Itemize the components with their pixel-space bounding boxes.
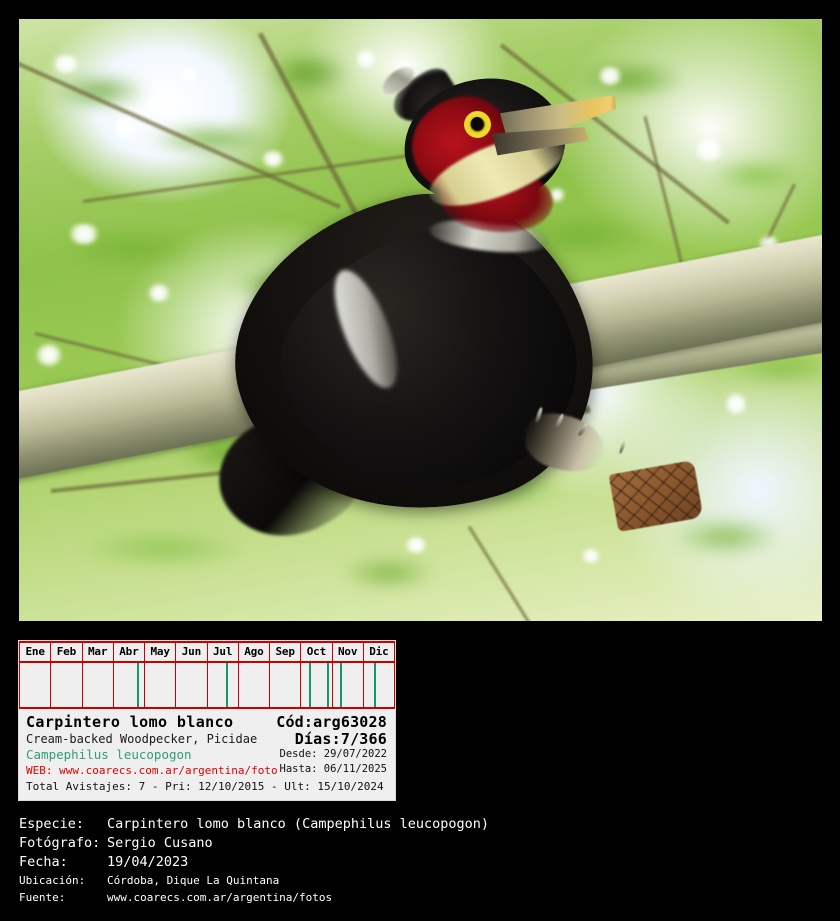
meta-value-5: www.coarecs.com.ar/argentina/fotos (107, 889, 332, 906)
photo-metadata: Especie:Carpintero lomo blanco (Campephi… (19, 815, 819, 906)
sighting-calendar-track (19, 663, 395, 709)
woodpecker (19, 19, 822, 621)
meta-value-3: 19/04/2023 (107, 853, 188, 872)
month-cell-ago: Ago (239, 643, 270, 661)
month-cell-sep: Sep (270, 643, 301, 661)
sighting-tick-5 (340, 663, 342, 707)
meta-row-3: Fecha:19/04/2023 (19, 853, 819, 872)
meta-label-1: Especie: (19, 815, 107, 834)
meta-label-5: Fuente: (19, 889, 107, 906)
date-range-from: Desde: 29/07/2022 (276, 747, 387, 762)
meta-value-1: Carpintero lomo blanco (Campephilus leuc… (107, 815, 489, 834)
meta-value-2: Sergio Cusano (107, 834, 213, 853)
species-total-sightings: Total Avistajes: 7 - Pri: 12/10/2015 - U… (26, 778, 388, 795)
species-info-right: Cód:arg63028 Días:7/366 Desde: 29/07/202… (276, 713, 387, 777)
month-cell-mar: Mar (83, 643, 114, 661)
month-cell-jul: Jul (208, 643, 239, 661)
species-code: Cód:arg63028 (276, 713, 387, 731)
species-days-count: Días:7/366 (276, 731, 387, 747)
month-cell-feb: Feb (51, 643, 82, 661)
sighting-tick-2 (226, 663, 228, 707)
species-data-card: Ene Feb Mar Abr May Jun Jul Ago Sep Oct … (18, 640, 396, 801)
meta-row-2: Fotógrafo:Sergio Cusano (19, 834, 819, 853)
species-info-block: Carpintero lomo blanco Cream-backed Wood… (19, 709, 395, 800)
month-cell-ene: Ene (19, 643, 51, 661)
photograph (19, 19, 822, 621)
month-cell-dic: Dic (364, 643, 395, 661)
meta-label-3: Fecha: (19, 853, 107, 872)
sighting-tick-1 (137, 663, 139, 707)
meta-row-5: Fuente:www.coarecs.com.ar/argentina/foto… (19, 889, 819, 906)
month-cell-abr: Abr (114, 643, 145, 661)
date-range-to: Hasta: 06/11/2025 (276, 762, 387, 777)
meta-value-4: Córdoba, Dique La Quintana (107, 872, 279, 889)
meta-row-4: Ubicación:Córdoba, Dique La Quintana (19, 872, 819, 889)
month-cell-nov: Nov (333, 643, 364, 661)
eye-pupil (471, 117, 483, 130)
sighting-tick-6 (374, 663, 376, 707)
month-header-row: Ene Feb Mar Abr May Jun Jul Ago Sep Oct … (19, 641, 395, 663)
meta-label-4: Ubicación: (19, 872, 107, 889)
sighting-tick-3 (309, 663, 311, 707)
sighting-tick-4 (327, 663, 329, 707)
month-cell-oct: Oct (301, 643, 332, 661)
meta-row-1: Especie:Carpintero lomo blanco (Campephi… (19, 815, 819, 834)
meta-label-2: Fotógrafo: (19, 834, 107, 853)
month-gridlines (19, 663, 395, 707)
month-cell-may: May (145, 643, 176, 661)
month-cell-jun: Jun (176, 643, 207, 661)
